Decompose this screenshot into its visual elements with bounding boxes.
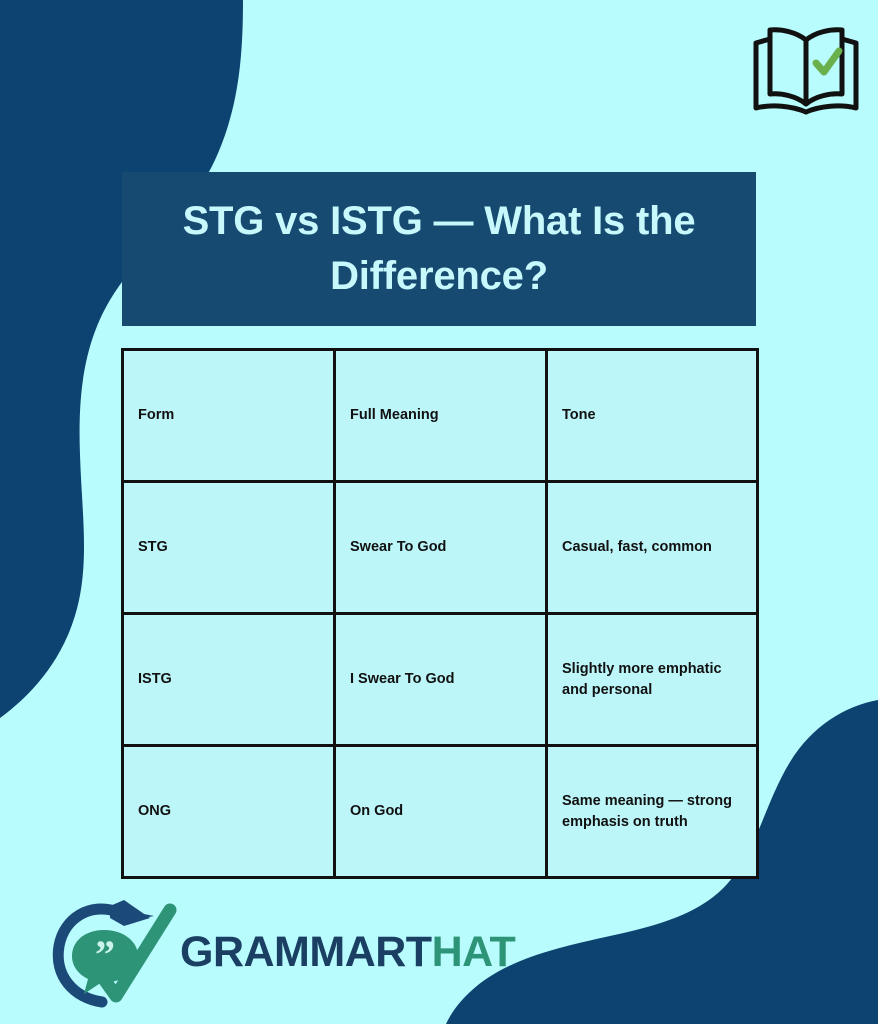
cell-full-meaning: Swear To God [335, 482, 547, 614]
cell-full-meaning: I Swear To God [335, 614, 547, 746]
title-banner: STG vs ISTG — What Is the Difference? [122, 172, 756, 326]
comparison-table: Form Full Meaning Tone STG Swear To God … [121, 348, 759, 879]
page-title: STG vs ISTG — What Is the Difference? [150, 194, 728, 304]
pen-nib-speech-bubble-checkmark-logo-icon: ” [50, 896, 178, 1008]
book-left-page [770, 30, 806, 104]
column-header-tone: Tone [547, 350, 758, 482]
cell-form: STG [123, 482, 335, 614]
cell-form: ISTG [123, 614, 335, 746]
column-header-full-meaning: Full Meaning [335, 350, 547, 482]
table-row: ONG On God Same meaning — strong emphasi… [123, 746, 758, 878]
cell-tone: Same meaning — strong emphasis on truth [547, 746, 758, 878]
cell-form: ONG [123, 746, 335, 878]
cell-full-meaning: On God [335, 746, 547, 878]
logo-word-primary: GRAMMART [180, 928, 432, 976]
logo-word-secondary: HAT [432, 928, 516, 976]
open-book-with-check-icon [746, 22, 866, 118]
table-header-row: Form Full Meaning Tone [123, 350, 758, 482]
column-header-form: Form [123, 350, 335, 482]
brand-logo: ” GRAMMARTHAT [50, 896, 500, 1008]
table-row: STG Swear To God Casual, fast, common [123, 482, 758, 614]
green-check-icon [816, 51, 839, 72]
cell-tone: Casual, fast, common [547, 482, 758, 614]
table-row: ISTG I Swear To God Slightly more emphat… [123, 614, 758, 746]
cell-tone: Slightly more emphatic and personal [547, 614, 758, 746]
logo-wordmark: GRAMMARTHAT [180, 931, 515, 974]
